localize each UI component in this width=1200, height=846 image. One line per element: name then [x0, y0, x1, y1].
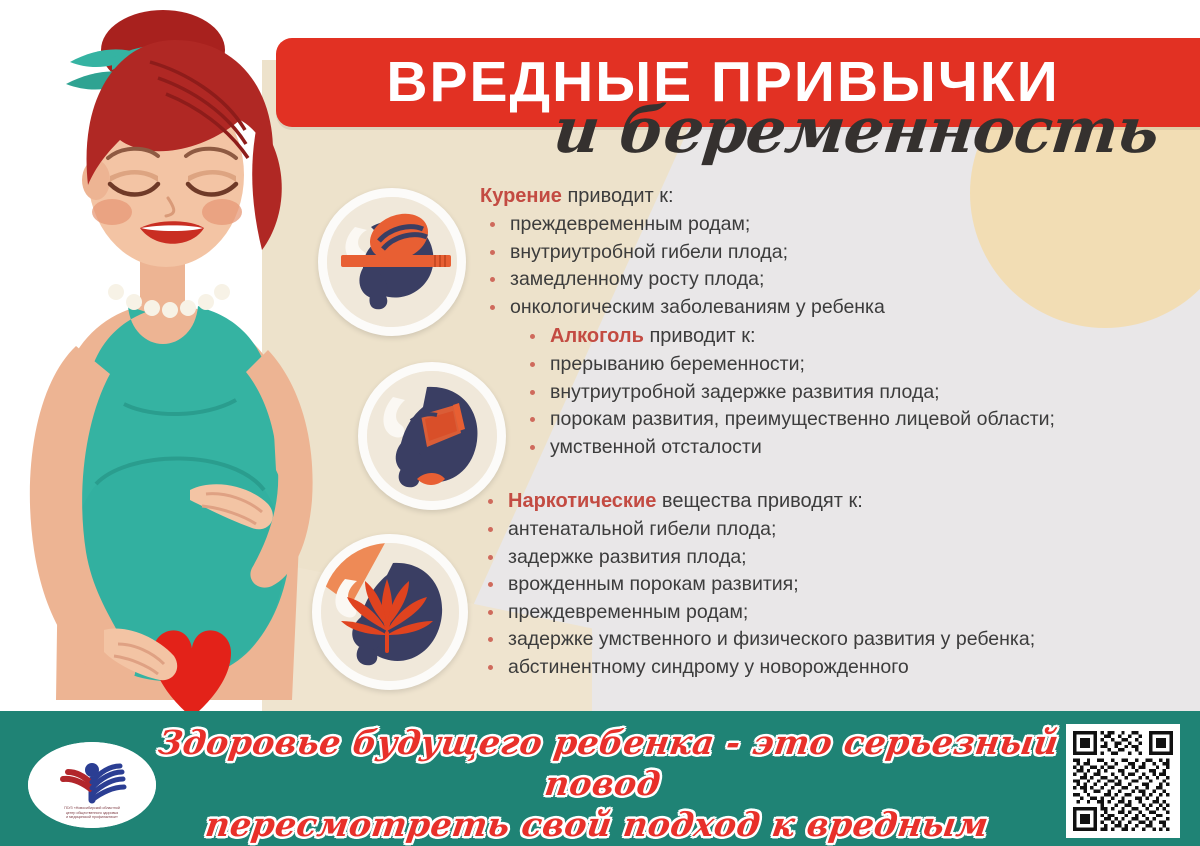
section-smoking: Курение приводит к: преждевременным рода…: [480, 182, 1040, 321]
list-item: задержке развития плода;: [478, 544, 1078, 572]
poster: ВРЕДНЫЕ ПРИВЫЧКИ и беременность: [0, 0, 1200, 846]
alcohol-list: прерыванию беременности; внутриутробной …: [520, 351, 1100, 461]
alcohol-heading-bold: Алкоголь: [550, 325, 644, 347]
health-center-logo: ГБУЗ «Новосибирский областной центр обще…: [28, 742, 156, 828]
section-alcohol: Алкоголь приводит к: прерыванию беременн…: [520, 322, 1100, 461]
list-item: преждевременным родам;: [480, 211, 1040, 239]
list-item: антенатальной гибели плода;: [478, 516, 1078, 544]
fetus-with-cigarette-icon: [318, 188, 466, 336]
drugs-heading: Наркотические вещества приводят к:: [478, 487, 1078, 516]
smoking-heading-rest: приводит к:: [562, 185, 674, 207]
slogan-line-1: Здоровье будущего ребенка - это серьезны…: [150, 722, 1062, 804]
logo-caption: ГБУЗ «Новосибирский областной центр обще…: [36, 806, 148, 820]
list-item: порокам развития, преимущественно лицево…: [520, 406, 1100, 434]
list-item: врожденным порокам развития;: [478, 571, 1078, 599]
drugs-list: антенатальной гибели плода; задержке раз…: [478, 516, 1078, 681]
list-item: преждевременным родам;: [478, 599, 1078, 627]
list-item: задержке умственного и физического разви…: [478, 626, 1078, 654]
list-item: замедленному росту плода;: [480, 266, 1040, 294]
list-item: абстинентному синдрому у новорожденного: [478, 654, 1078, 682]
drugs-heading-bold: Наркотические: [508, 490, 656, 512]
alcohol-heading-rest: приводит к:: [644, 325, 756, 347]
qr-code[interactable]: [1066, 724, 1180, 838]
section-drugs: Наркотические вещества приводят к: антен…: [478, 487, 1078, 681]
alcohol-heading: Алкоголь приводит к:: [520, 322, 1100, 351]
list-item: внутриутробной задержке развития плода;: [520, 379, 1100, 407]
slogan-text: Здоровье будущего ребенка - это серьезны…: [138, 722, 1061, 846]
smoking-list: преждевременным родам; внутриутробной ги…: [480, 211, 1040, 321]
slogan-line-2: пересмотреть свой подход к вредным привы…: [138, 804, 1050, 846]
page-subtitle: и беременность: [0, 95, 1162, 165]
list-item: умственной отсталости: [520, 434, 1100, 462]
smoking-heading-bold: Курение: [480, 185, 562, 207]
fetus-with-cannabis-leaf-icon: [312, 534, 468, 690]
logo-caption-line-3: и медицинской профилактики»: [36, 815, 148, 820]
smoking-heading: Курение приводит к:: [480, 182, 1040, 211]
list-item: прерыванию беременности;: [520, 351, 1100, 379]
drugs-heading-rest: вещества приводят к:: [656, 490, 862, 512]
list-item: онкологическим заболеваниям у ребенка: [480, 294, 1040, 322]
list-item: внутриутробной гибели плода;: [480, 239, 1040, 267]
